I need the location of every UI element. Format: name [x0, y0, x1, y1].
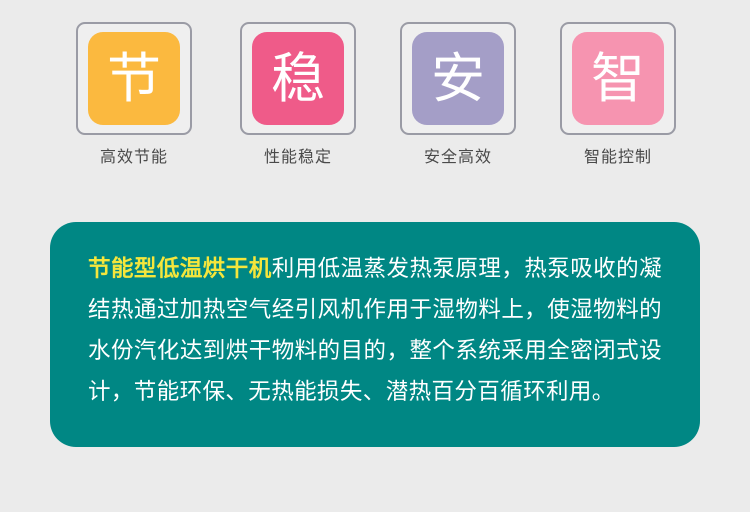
feature-cards-row: 节 高效节能 稳 性能稳定 安 安全高效 智 智能控制: [0, 0, 750, 190]
feature-card-0[interactable]: 节: [76, 22, 192, 135]
feature-card-3[interactable]: 智: [560, 22, 676, 135]
feature-card-2[interactable]: 安: [400, 22, 516, 135]
feature-card-label-3: 智能控制: [548, 143, 688, 167]
feature-card-label-1: 性能稳定: [228, 143, 368, 167]
feature-card-1[interactable]: 稳: [240, 22, 356, 135]
jie-character-icon: 节: [88, 32, 180, 125]
wen-character-icon: 稳: [252, 32, 344, 125]
feature-card-label-0: 高效节能: [64, 143, 204, 167]
feature-card-label-2: 安全高效: [388, 143, 528, 167]
zhi-character-icon: 智: [572, 32, 664, 125]
description-panel: 节能型低温烘干机利用低温蒸发热泵原理，热泵吸收的凝结热通过加热空气经引风机作用于…: [50, 222, 700, 447]
description-highlight: 节能型低温烘干机: [88, 256, 272, 281]
description-paragraph: 节能型低温烘干机利用低温蒸发热泵原理，热泵吸收的凝结热通过加热空气经引风机作用于…: [88, 248, 662, 412]
an-character-icon: 安: [412, 32, 504, 125]
